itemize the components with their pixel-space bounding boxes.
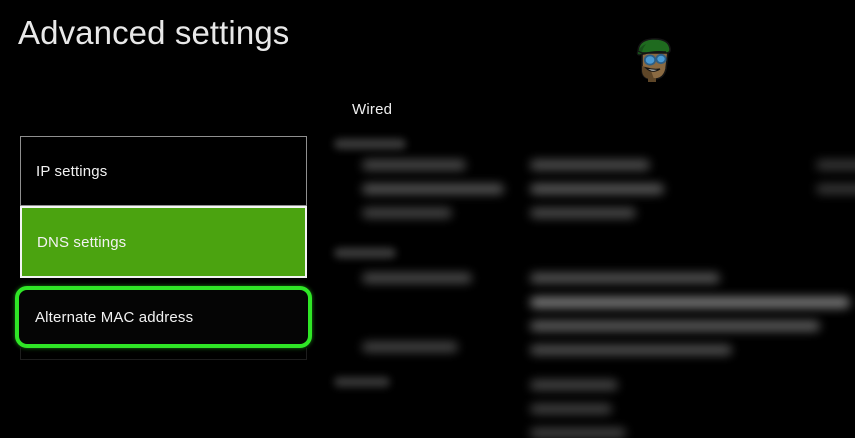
blurred-value [530, 321, 820, 331]
avatar-svg [630, 36, 678, 82]
gamerpic-avatar-icon[interactable] [630, 36, 678, 82]
blurred-section-header [334, 248, 396, 258]
menu-item-label: IP settings [21, 163, 107, 180]
blurred-label [362, 184, 504, 194]
blurred-value [530, 404, 612, 414]
blurred-value [530, 208, 636, 218]
blurred-value [816, 160, 855, 170]
menu-item-ip-settings[interactable]: IP settings [20, 136, 307, 206]
blurred-label [362, 208, 452, 218]
blurred-label [362, 273, 472, 283]
page-title: Advanced settings [18, 13, 289, 53]
settings-menu: IP settings DNS settings Alternate MAC a… [0, 130, 330, 360]
blurred-value [530, 297, 850, 308]
blurred-value [530, 345, 732, 355]
blurred-section-header [334, 377, 390, 387]
blurred-label [362, 342, 458, 352]
menu-item-label: DNS settings [22, 234, 126, 251]
blurred-value [530, 273, 720, 283]
blurred-section-header [334, 139, 406, 149]
blurred-value [530, 160, 650, 170]
menu-item-label: Alternate MAC address [19, 309, 193, 326]
menu-item-alternate-mac-address[interactable]: Alternate MAC address [15, 286, 312, 348]
blurred-value [530, 380, 618, 390]
blurred-value [816, 184, 855, 194]
blurred-label [362, 160, 466, 170]
network-detail-pane: Wired [330, 95, 855, 437]
detail-pane-heading: Wired [352, 101, 392, 118]
menu-item-dns-settings[interactable]: DNS settings [20, 206, 307, 278]
menu-item-partial-next [20, 348, 307, 360]
blurred-value [530, 184, 664, 194]
